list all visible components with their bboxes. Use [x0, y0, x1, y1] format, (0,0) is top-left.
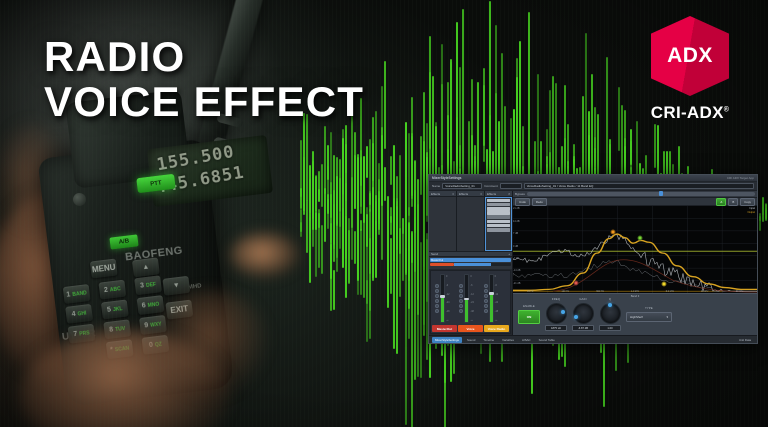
status-tab[interactable]: Sound Table [536, 337, 558, 343]
eq-node-yellow[interactable] [662, 282, 667, 287]
y-axis-tick: 14 dB [513, 220, 520, 223]
q-caption: Q [609, 298, 611, 301]
effects-column-title: Effects [459, 192, 468, 196]
effect-list-item[interactable] [487, 215, 510, 219]
strip-knob[interactable] [484, 289, 488, 293]
strip-knobs[interactable] [459, 274, 463, 323]
scale-tick: -48 [470, 310, 481, 313]
send-row[interactable]: MasterOut [430, 258, 511, 262]
status-tab[interactable]: Sound [464, 337, 478, 343]
status-bar[interactable]: MixerStyleSettingsSoundTimelineVariables… [429, 335, 757, 343]
scale-tick: -6 [446, 284, 457, 287]
effects-list[interactable] [457, 197, 484, 251]
redo-button[interactable]: Redo [532, 198, 547, 206]
strip-name-label[interactable]: Voice [458, 325, 483, 332]
effect-list-item[interactable] [487, 220, 510, 224]
window-title-bar: MixerStyleSettings CRI ADX Target App [429, 175, 757, 182]
q-readout[interactable]: 1.00 [599, 325, 621, 331]
channel-strips[interactable]: 0-6-12-24-48-∞0-6-12-24-48-∞0-6-12-24-48… [430, 270, 511, 334]
send-label: Send [431, 252, 438, 256]
eq-node-green[interactable] [637, 236, 642, 241]
strip-knob[interactable] [484, 299, 488, 303]
effects-column[interactable]: Effects0 [457, 191, 485, 251]
adx-logo: ADX CRI-ADX® [634, 16, 746, 123]
fader-scale: 0-6-12-24-48-∞ [446, 274, 457, 323]
legend-input: Input [749, 207, 755, 210]
preset-a-button[interactable]: A [716, 198, 726, 206]
band-title: Band 3 [631, 295, 640, 298]
chevron-down-icon: ▾ [667, 315, 668, 319]
eq-zone: Bypass Undo Redo A B Copy Input Output 2… [513, 191, 757, 335]
effects-list[interactable] [485, 197, 512, 251]
scale-tick: 0 [495, 275, 506, 278]
gain-readout[interactable]: -6.87 dB [572, 325, 594, 331]
strip-knob[interactable] [484, 304, 488, 308]
status-tab[interactable]: AISAC [519, 337, 534, 343]
strip-knobs[interactable] [484, 274, 488, 323]
scale-tick: -12 [495, 293, 506, 296]
y-axis-tick: 7 dB [513, 232, 518, 235]
volume-fader[interactable] [464, 274, 469, 323]
scale-tick: -∞ [446, 319, 457, 322]
effects-column-title: Effects [487, 192, 496, 196]
eq-graph[interactable]: Input Output 21 dB14 dB7 dB0 dB-7 dB-14 … [513, 206, 757, 293]
enable-caption: ENABLE [523, 305, 535, 308]
comment-label: Comment [484, 184, 497, 188]
effects-column[interactable]: Effects0 [429, 191, 457, 251]
preset-b-button[interactable]: B [728, 198, 738, 206]
eq-toolbar[interactable]: Undo Redo A B Copy [513, 198, 757, 206]
scale-tick: -12 [446, 293, 457, 296]
daw-window[interactable]: MixerStyleSettings CRI ADX Target App Na… [428, 174, 758, 344]
channel-strip[interactable]: 0-6-12-24-48-∞ [459, 274, 481, 323]
effects-list[interactable] [429, 197, 456, 251]
q-knob[interactable] [600, 303, 621, 324]
strip-knob[interactable] [459, 304, 463, 308]
strip-knob[interactable] [484, 284, 488, 288]
copy-button[interactable]: Copy [740, 198, 755, 206]
freq-readout[interactable]: 1875 Hz [545, 325, 567, 331]
effects-mixer-zone: Effects0Effects0Effects8 Send+ MasterOut… [429, 191, 513, 335]
promo-banner: 155.500 445.6851 PTT A/B BAOFENG MHD UV-… [0, 0, 768, 427]
volume-fader[interactable] [489, 274, 494, 323]
status-right-label: Unit Data [736, 337, 754, 343]
strip-knob[interactable] [435, 299, 439, 303]
title-line-1: RADIO [44, 34, 364, 79]
scale-tick: -48 [495, 310, 506, 313]
effects-column-title: Effects [431, 192, 440, 196]
freq-caption: FREQ [552, 298, 560, 301]
scale-tick: -6 [495, 284, 506, 287]
fader-scale: 0-6-12-24-48-∞ [470, 274, 481, 323]
scale-tick: -48 [446, 310, 457, 313]
name-label: Name [432, 184, 440, 188]
type-caption: TYPE [645, 307, 653, 310]
window-title: MixerStyleSettings [432, 176, 462, 180]
scale-tick: -∞ [470, 319, 481, 322]
scale-tick: -24 [470, 301, 481, 304]
status-tab[interactable]: Variables [499, 337, 517, 343]
legend-output: Output [747, 211, 755, 214]
fader-zone[interactable]: 0-6-12-24-48-∞0-6-12-24-48-∞0-6-12-24-48… [432, 272, 509, 325]
strip-knob[interactable] [459, 289, 463, 293]
bypass-slider[interactable] [527, 192, 755, 196]
strip-knob[interactable] [484, 309, 488, 313]
effect-list-item[interactable] [487, 211, 510, 215]
enable-on-button[interactable]: ON [518, 310, 540, 324]
strip-knob[interactable] [435, 289, 439, 293]
freq-control[interactable]: FREQ 1875 Hz [545, 298, 567, 331]
strip-knob[interactable] [435, 309, 439, 313]
freq-knob[interactable] [546, 303, 567, 324]
scale-tick: -24 [446, 301, 457, 304]
send-box[interactable]: MasterOut [429, 257, 512, 269]
name-input[interactable]: VoiceRadioSetting_01 [442, 183, 482, 189]
type-value: HighShelf [630, 315, 643, 319]
title-line-2: VOICE EFFECT [44, 79, 364, 124]
gain-knob[interactable] [573, 303, 594, 324]
effect-list-item[interactable] [487, 203, 510, 207]
effects-columns: Effects0Effects0Effects8 [429, 191, 512, 251]
fader-scale: 0-6-12-24-48-∞ [495, 274, 506, 323]
strip-name-label[interactable]: MasterOut [432, 325, 457, 332]
bypass-label: Bypass [515, 192, 525, 196]
effect-list-item[interactable] [487, 207, 510, 211]
scale-tick: -12 [470, 293, 481, 296]
y-axis-tick: 21 dB [513, 207, 520, 210]
gain-caption: GAIN [579, 298, 586, 301]
channel-strip[interactable]: 0-6-12-24-48-∞ [484, 274, 506, 323]
channel-strip[interactable]: 0-6-12-24-48-∞ [435, 274, 457, 323]
scale-tick: -∞ [495, 319, 506, 322]
send-level-bar[interactable] [430, 263, 511, 266]
gain-control[interactable]: GAIN -6.87 dB [572, 298, 594, 331]
effects-column[interactable]: Effects8 [485, 191, 512, 251]
eq-node-orange[interactable] [611, 230, 616, 235]
strip-labels[interactable]: MasterOutVoiceVoice Radio [432, 325, 509, 332]
status-tab[interactable]: MixerStyleSettings [432, 337, 462, 343]
strip-name-label[interactable]: Voice Radio [484, 325, 509, 332]
registered-mark: ® [724, 106, 729, 113]
volume-fader[interactable] [440, 274, 445, 323]
effect-list-item[interactable] [487, 228, 510, 232]
strip-knob[interactable] [459, 299, 463, 303]
eq-parameters-panel[interactable]: Band 3 ENABLE ON FREQ 1875 Hz GAIN -6.87… [513, 293, 757, 335]
window-title-right: CRI ADX Target App [727, 176, 754, 180]
strip-knob[interactable] [459, 284, 463, 288]
window-body: Effects0Effects0Effects8 Send+ MasterOut… [429, 191, 757, 335]
y-axis-tick: -14 dB [513, 269, 520, 272]
logo-wordmark-text: CRI-ADX [651, 103, 724, 122]
effects-count: 0 [480, 192, 482, 196]
effects-count: 8 [508, 192, 510, 196]
logo-wordmark: CRI-ADX® [634, 103, 746, 123]
name-comment-row: Name VoiceRadioSetting_01 Comment VoiceR… [429, 182, 757, 191]
strip-knob[interactable] [435, 294, 439, 298]
bypass-bar[interactable]: Bypass [513, 191, 757, 198]
type-control[interactable]: TYPE HighShelf ▾ [626, 307, 672, 322]
eq-response-curve [513, 234, 757, 290]
y-axis-tick: -7 dB [513, 257, 519, 260]
enable-control[interactable]: ENABLE ON [518, 305, 540, 324]
strip-knob[interactable] [435, 284, 439, 288]
y-axis-tick: 0 dB [513, 245, 518, 248]
type-select[interactable]: HighShelf ▾ [626, 312, 672, 322]
hexagon-icon: ADX [651, 16, 729, 96]
strip-knob[interactable] [459, 294, 463, 298]
scale-tick: -24 [495, 301, 506, 304]
strip-knob[interactable] [459, 309, 463, 313]
effect-list-item[interactable] [487, 199, 510, 203]
status-tab[interactable]: Timeline [480, 337, 497, 343]
strip-knobs[interactable] [435, 274, 439, 323]
page-title: RADIO VOICE EFFECT [44, 34, 364, 125]
logo-mark: ADX [667, 44, 713, 68]
y-axis-tick: -21 dB [513, 282, 520, 285]
scale-tick: 0 [446, 275, 457, 278]
strip-knob[interactable] [435, 304, 439, 308]
scale-tick: 0 [470, 275, 481, 278]
undo-button[interactable]: Undo [515, 198, 530, 206]
path-field[interactable]: VoiceRadioSetting_01 / Voice Radio / 11 … [524, 183, 754, 189]
effect-list-item[interactable] [487, 224, 510, 228]
comment-input[interactable] [500, 183, 522, 189]
q-control[interactable]: Q 1.00 [599, 298, 621, 331]
effects-count: 0 [452, 192, 454, 196]
strip-knob[interactable] [484, 294, 488, 298]
scale-tick: -6 [470, 284, 481, 287]
eq-node-red[interactable] [574, 280, 579, 285]
eq-curve-svg [513, 206, 757, 293]
